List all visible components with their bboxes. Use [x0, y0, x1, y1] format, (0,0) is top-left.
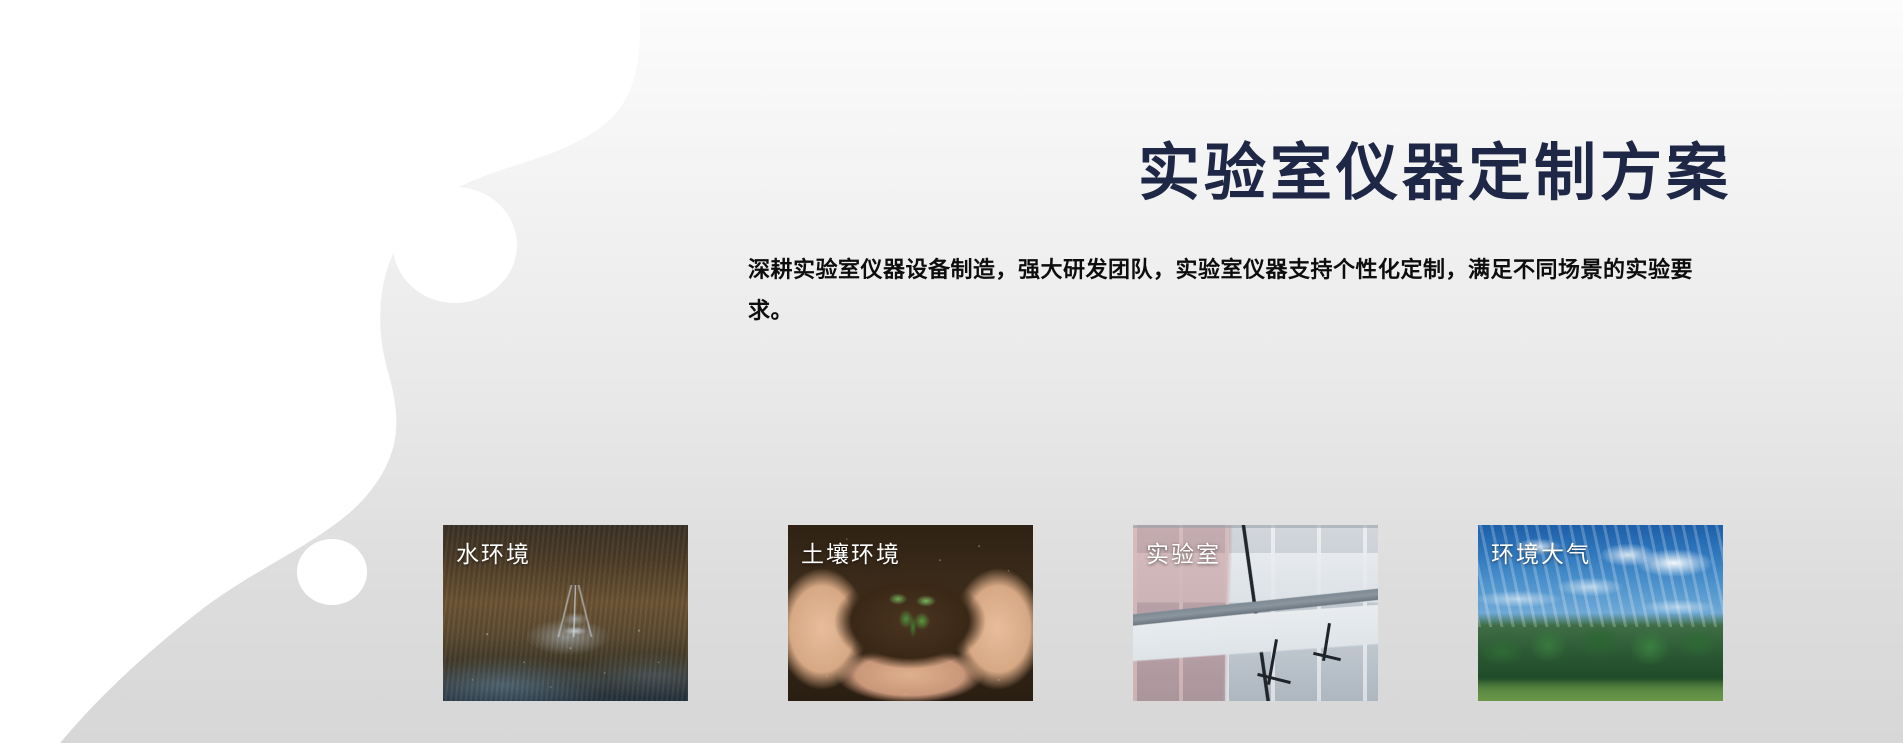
card-soil-environment[interactable]: 土壤环境 [788, 525, 1033, 701]
lab-stool-foot-icon [1257, 673, 1291, 684]
card-label-water-environment: 水环境 [456, 535, 531, 569]
page-subtitle: 深耕实验室仪器设备制造，强大研发团队，实验室仪器支持个性化定制，满足不同场景的实… [748, 250, 1728, 331]
environment-card-row: 水环境 土壤环境 实验室 环境大气 [443, 525, 1713, 701]
hero-text-block: 实验室仪器定制方案 深耕实验室仪器设备制造，强大研发团队，实验室仪器支持个性化定… [748, 140, 1738, 332]
page-title: 实验室仪器定制方案 [748, 140, 1738, 208]
card-laboratory[interactable]: 实验室 [1133, 525, 1378, 701]
card-label-soil-environment: 土壤环境 [801, 535, 901, 569]
lab-stool-foot-secondary-icon [1313, 652, 1341, 661]
card-atmosphere-environment[interactable]: 环境大气 [1478, 525, 1723, 701]
card-water-environment[interactable]: 水环境 [443, 525, 688, 701]
card-label-laboratory: 实验室 [1146, 535, 1221, 569]
hero-banner: 实验室仪器定制方案 深耕实验室仪器设备制造，强大研发团队，实验室仪器支持个性化定… [0, 0, 1903, 743]
card-label-atmosphere-environment: 环境大气 [1491, 535, 1591, 569]
